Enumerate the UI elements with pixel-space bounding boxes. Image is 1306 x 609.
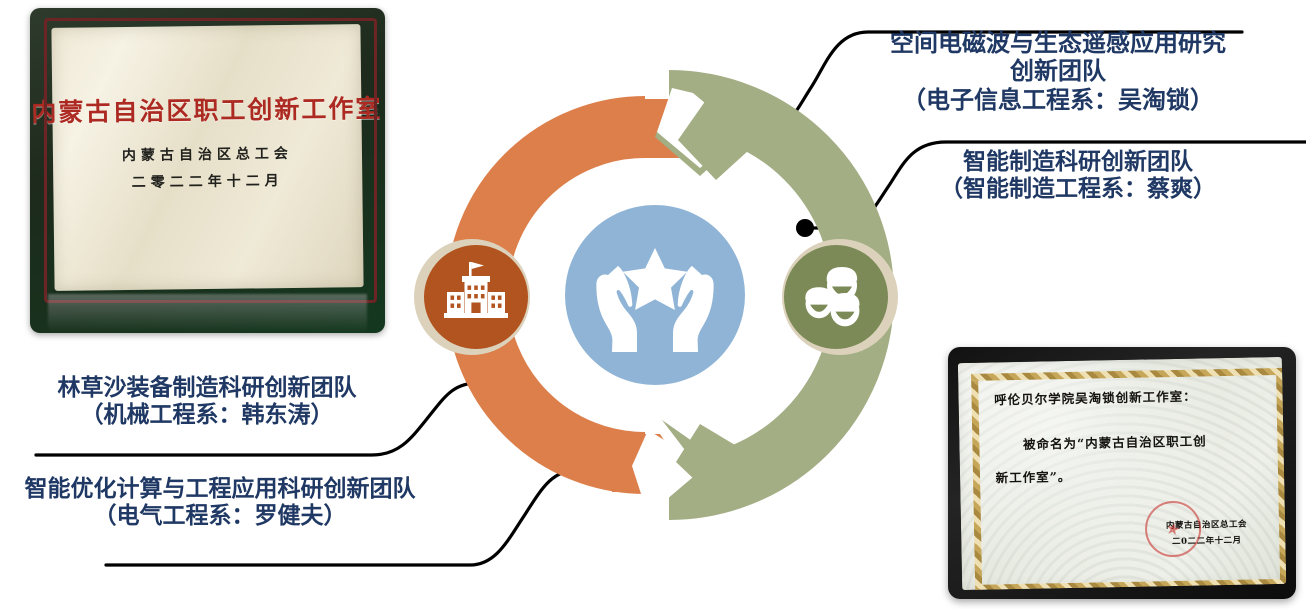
certificate-line1: 呼伦贝尔学院吴淘锁创新工作室： [994,384,1247,408]
label-intelligent-optimization-team: 智能优化计算与工程应用科研创新团队 （电气工程系：罗健夫） [10,475,430,529]
label-mid-left-line1: 林草沙装备制造科研创新团队 [22,374,392,401]
plaque-frame: 内蒙古自治区职工创新工作室 内蒙古自治区总工会 二零二二年十二月 [30,8,385,333]
label-bottom-left-line1: 智能优化计算与工程应用科研创新团队 [10,475,430,502]
label-intelligent-manufacturing-team: 智能制造科研创新团队 （智能制造工程系：蔡爽） [892,148,1264,202]
label-forest-grass-sand-equipment-team: 林草沙装备制造科研创新团队 （机械工程系：韩东涛） [22,374,392,428]
slide-canvas: 内蒙古自治区职工创新工作室 内蒙古自治区总工会 二零二二年十二月 呼伦贝尔学院吴… [0,0,1306,609]
certificate-text: 呼伦贝尔学院吴淘锁创新工作室： 被命名为“内蒙古自治区职工创 新工作室”。 内蒙… [994,384,1250,561]
certificate-line3: 新工作室”。 [996,462,1249,486]
team-badge[interactable] [782,239,898,355]
label-top-right-line2: 创新团队 [868,58,1248,86]
certificate-paper: 呼伦贝尔学院吴淘锁创新工作室： 被命名为“内蒙古自治区职工创 新工作室”。 内蒙… [958,357,1286,590]
label-mid-left-line2: （机械工程系：韩东涛） [22,401,392,428]
certificate-photo: 呼伦贝尔学院吴淘锁创新工作室： 被命名为“内蒙古自治区职工创 新工作室”。 内蒙… [948,347,1296,599]
plaque-title: 内蒙古自治区职工创新工作室 [31,89,382,129]
institution-badge[interactable] [414,239,530,355]
plaque-reflection [48,294,368,333]
label-mid-right-line2: （智能制造工程系：蔡爽） [892,175,1264,202]
label-top-right-line1: 空间电磁波与生态遥感应用研究 [868,30,1248,58]
label-bottom-left-line2: （电气工程系：罗健夫） [10,502,430,529]
plaque-org: 内蒙古自治区总工会 [122,143,293,165]
certificate-line2: 被命名为“内蒙古自治区职工创 [995,429,1248,453]
label-top-right-line3: （电子信息工程系：吴淘锁） [868,87,1248,115]
plaque-date: 二零二二年十二月 [132,170,284,192]
label-mid-right-line1: 智能制造科研创新团队 [892,148,1264,175]
label-space-em-remote-sensing-team: 空间电磁波与生态遥感应用研究 创新团队 （电子信息工程系：吴淘锁） [868,30,1248,115]
plaque-photo: 内蒙古自治区职工创新工作室 内蒙古自治区总工会 二零二二年十二月 [30,8,385,333]
certificate-frame: 呼伦贝尔学院吴淘锁创新工作室： 被命名为“内蒙古自治区职工创 新工作室”。 内蒙… [948,347,1296,599]
red-seal-icon [1145,500,1202,557]
plaque-board: 内蒙古自治区职工创新工作室 内蒙古自治区总工会 二零二二年十二月 [51,24,363,291]
